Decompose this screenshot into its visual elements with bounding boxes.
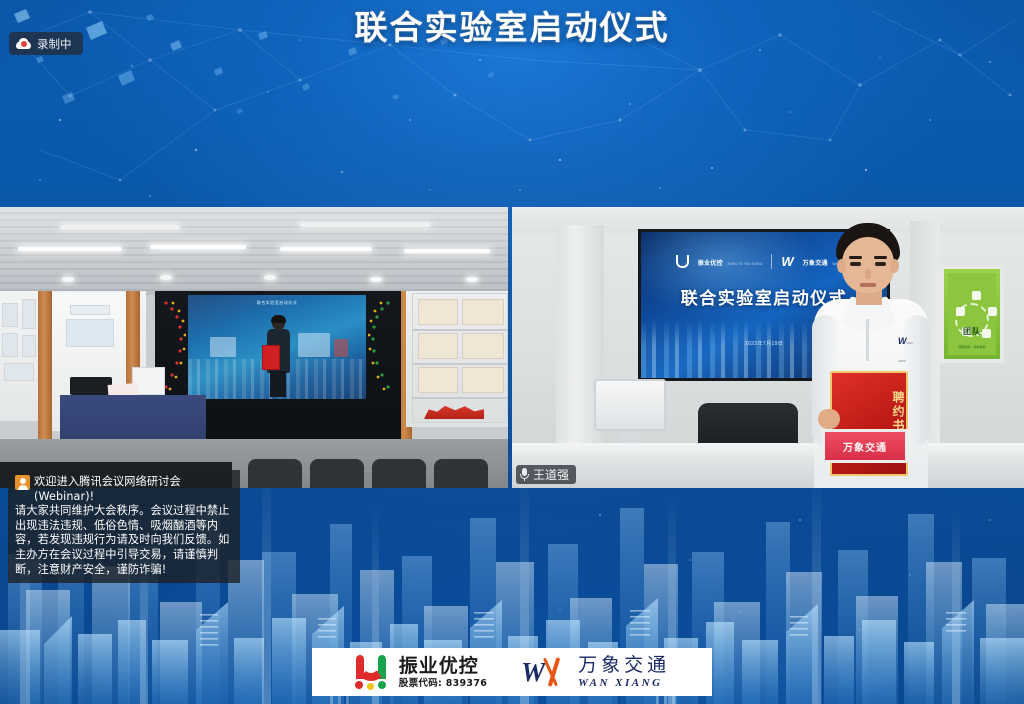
caption-body: 请大家共同维护大会秩序。会议过程中禁止出现违法违规、低俗色情、吸烟酗酒等内容，若… — [15, 504, 233, 577]
logo-wanxiang-name: 万象交通 — [578, 655, 670, 676]
video-tile-right[interactable]: 振业优控 ZHEN YE YOU KONG W 万象交通 WAN XIANG 联… — [512, 207, 1024, 488]
logo-zhenye-name: 振业优控 — [399, 656, 487, 677]
desk-nameplate-text: 万象交通 — [843, 439, 887, 454]
led-screen-person — [266, 317, 290, 395]
wx-logo-icon: W — [521, 656, 567, 688]
person-avatar-icon — [15, 475, 30, 490]
video-grid: 联合实验室启动仪式 — [0, 207, 1024, 488]
u-logo-icon — [676, 255, 689, 268]
logo-zhenye: 振业优控 股票代码: 839376 — [354, 655, 487, 689]
webinar-notice-caption: 欢迎进入腾讯会议网络研讨会(Webinar)! 请大家共同维护大会秩序。会议过程… — [8, 470, 240, 583]
led-dot-pattern-right — [368, 295, 394, 399]
caption-line-1: 欢迎进入腾讯会议网络研讨会(Webinar)! — [34, 475, 233, 504]
conference-room-scene: 联合实验室启动仪式 — [0, 207, 508, 488]
speaker-room-scene: 振业优控 ZHEN YE YOU KONG W 万象交通 WAN XIANG 联… — [512, 207, 1024, 488]
recording-cloud-icon — [16, 38, 31, 50]
logo-wanxiang: W 万象交通 WAN XIANG — [521, 655, 670, 689]
recording-label: 录制中 — [37, 36, 72, 52]
meeting-stage: 联合实验室启动仪式 录制中 — [0, 0, 1024, 704]
led-screen-title: 联合实验室启动仪式 — [188, 300, 366, 306]
u-logo-icon — [354, 655, 390, 689]
recording-badge[interactable]: 录制中 — [9, 32, 83, 55]
poster-subtitle: 团结协作 · 共创未来 — [948, 345, 996, 349]
microphone-icon — [519, 468, 530, 482]
logo-zhenye-stock-code: 股票代码: 839376 — [399, 678, 487, 689]
slide-logo-left-sub: ZHEN YE YOU KONG — [727, 262, 762, 266]
shirt-logo-icon: WWAN XIANG — [898, 331, 918, 345]
slide-logo-left-name: 振业优控 — [698, 261, 723, 267]
wx-logo-icon: W — [781, 255, 793, 268]
led-wall-screen: 联合实验室启动仪式 — [188, 295, 366, 399]
speaker-name: 王道强 — [533, 466, 569, 483]
desk-nameplate: 万象交通 — [822, 429, 908, 463]
speaker-name-tag: 王道强 — [516, 465, 576, 484]
sponsor-logo-bar: 振业优控 股票代码: 839376 W 万象交通 WAN XIANG — [312, 648, 712, 696]
team-poster: 团队 团结协作 · 共创未来 — [940, 265, 1004, 363]
poster-title: 团队 — [948, 326, 996, 337]
logo-wanxiang-pinyin: WAN XIANG — [578, 677, 670, 689]
page-title: 联合实验室启动仪式 — [0, 8, 1024, 48]
video-tile-left[interactable]: 联合实验室启动仪式 — [0, 207, 508, 488]
certificate-label: 聘约书 — [832, 391, 906, 433]
